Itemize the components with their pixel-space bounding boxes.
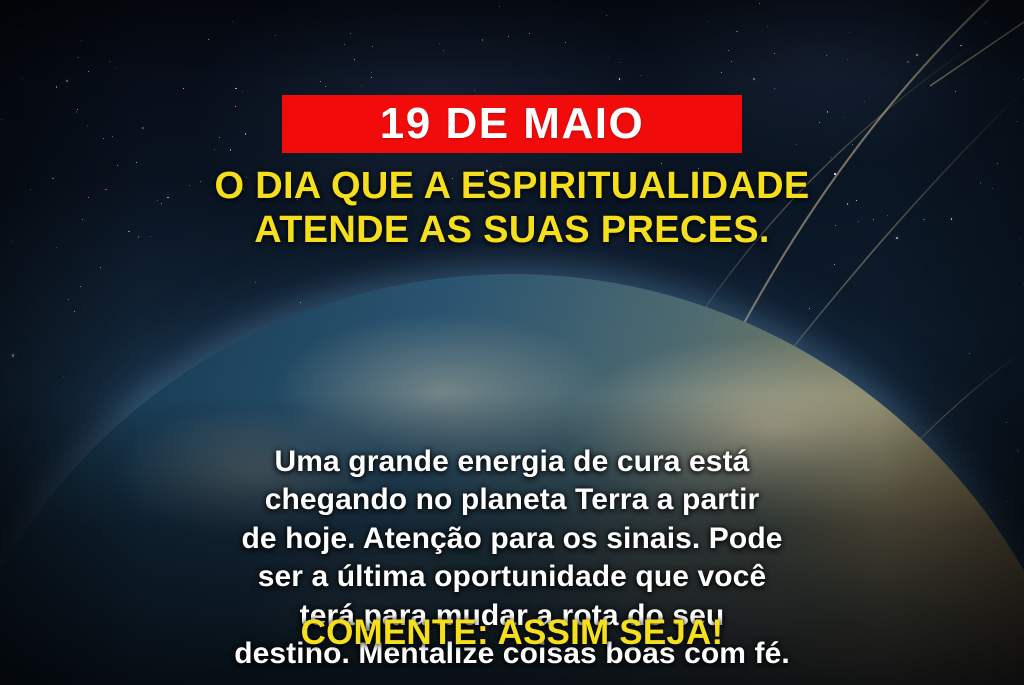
headline-line-2: ATENDE AS SUAS PRECES.: [28, 208, 996, 252]
date-banner: 19 DE MAIO: [282, 95, 742, 153]
body-line-4: ser a última oportunidade que você: [56, 558, 968, 596]
poster-content: 19 DE MAIO O DIA QUE A ESPIRITUALIDADE A…: [0, 0, 1024, 685]
headline: O DIA QUE A ESPIRITUALIDADE ATENDE AS SU…: [0, 164, 1024, 252]
body-line-1: Uma grande energia de cura está: [56, 443, 968, 481]
body-line-3: de hoje. Atenção para os sinais. Pode: [56, 520, 968, 558]
date-banner-text: 19 DE MAIO: [380, 102, 644, 146]
body-line-2: chegando no planeta Terra a partir: [56, 481, 968, 519]
call-to-action-text: COMENTE: ASSIM SEJA!: [0, 614, 1024, 653]
headline-line-1: O DIA QUE A ESPIRITUALIDADE: [28, 164, 996, 208]
poster-canvas: 19 DE MAIO O DIA QUE A ESPIRITUALIDADE A…: [0, 0, 1024, 685]
